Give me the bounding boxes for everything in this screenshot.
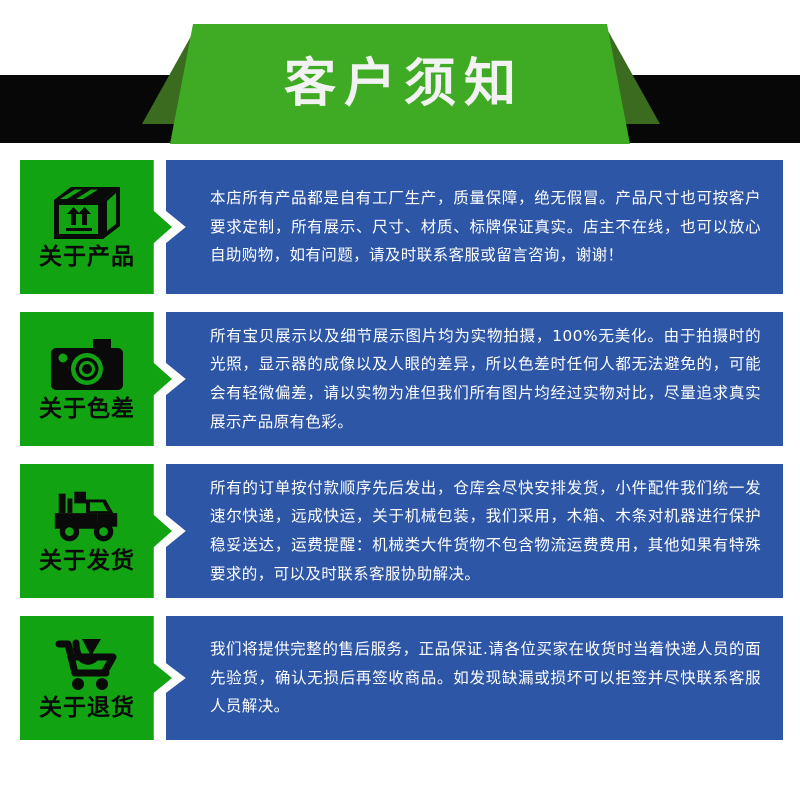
notice-sections: 关于产品 本店所有产品都是自有工厂生产，质量保障，绝无假冒。产品尺寸也可按客户要… bbox=[0, 160, 800, 740]
label-text-color: 关于色差 bbox=[39, 397, 135, 422]
label-text-shipping: 关于发货 bbox=[39, 549, 135, 574]
camera-icon bbox=[49, 335, 125, 395]
label-text-return: 关于退货 bbox=[39, 696, 135, 721]
notice-body-product: 本店所有产品都是自有工厂生产，质量保障，绝无假冒。产品尺寸也可按客户要求定制，所… bbox=[210, 184, 761, 270]
text-panel-product: 本店所有产品都是自有工厂生产，质量保障，绝无假冒。产品尺寸也可按客户要求定制，所… bbox=[166, 160, 783, 294]
notice-row-product: 关于产品 本店所有产品都是自有工厂生产，质量保障，绝无假冒。产品尺寸也可按客户要… bbox=[0, 160, 800, 294]
text-panel-return: 我们将提供完整的售后服务，正品保证.请各位买家在收货时当着快递人员的面先验货，确… bbox=[166, 616, 783, 740]
banner-plate: 客户须知 bbox=[170, 24, 630, 144]
notice-body-return: 我们将提供完整的售后服务，正品保证.请各位买家在收货时当着快递人员的面先验货，确… bbox=[210, 635, 761, 721]
box-icon bbox=[49, 183, 125, 243]
forklift-truck-icon bbox=[49, 487, 125, 547]
label-box-shipping[interactable]: 关于发货 bbox=[20, 464, 172, 598]
notice-row-color: 关于色差 所有宝贝展示以及细节展示图片均为实物拍摄，100%无美化。由于拍摄时的… bbox=[0, 312, 800, 446]
notice-body-shipping: 所有的订单按付款顺序先后发出，仓库会尽快安排发货，小件配件我们统一发速尔快递，远… bbox=[210, 474, 761, 589]
label-box-product[interactable]: 关于产品 bbox=[20, 160, 172, 294]
notice-body-color: 所有宝贝展示以及细节展示图片均为实物拍摄，100%无美化。由于拍摄时的光照，显示… bbox=[210, 322, 761, 437]
header-banner: 客户须知 bbox=[0, 0, 800, 160]
return-cart-icon bbox=[49, 634, 125, 694]
label-text-product: 关于产品 bbox=[39, 245, 135, 270]
notice-row-return: 关于退货 我们将提供完整的售后服务，正品保证.请各位买家在收货时当着快递人员的面… bbox=[0, 616, 800, 740]
text-panel-shipping: 所有的订单按付款顺序先后发出，仓库会尽快安排发货，小件配件我们统一发速尔快递，远… bbox=[166, 464, 783, 598]
label-box-color[interactable]: 关于色差 bbox=[20, 312, 172, 446]
notice-row-shipping: 关于发货 所有的订单按付款顺序先后发出，仓库会尽快安排发货，小件配件我们统一发速… bbox=[0, 464, 800, 598]
label-box-return[interactable]: 关于退货 bbox=[20, 616, 172, 740]
text-panel-color: 所有宝贝展示以及细节展示图片均为实物拍摄，100%无美化。由于拍摄时的光照，显示… bbox=[166, 312, 783, 446]
page-title: 客户须知 bbox=[276, 58, 524, 110]
